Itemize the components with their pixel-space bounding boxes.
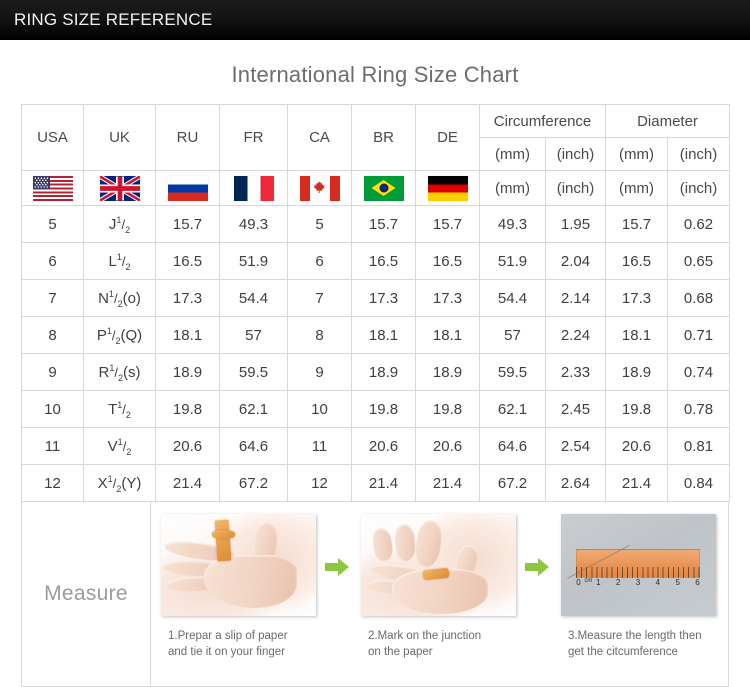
flag-france-icon <box>234 176 274 201</box>
measure-label: Measure <box>44 582 128 606</box>
cell-fr: 64.6 <box>220 428 288 465</box>
cell-uk: R1/2(s) <box>84 354 156 391</box>
cell-br: 18.1 <box>352 317 416 354</box>
cell-uk: L1/2 <box>84 243 156 280</box>
cell-circumference-inch: 2.64 <box>546 465 606 502</box>
measure-step-3: 0cm123456 3.Measure the length then get … <box>551 514 725 660</box>
cell-ca: 7 <box>288 280 352 317</box>
column-header-br: BR <box>352 105 416 171</box>
cell-circumference-mm: 62.1 <box>480 391 546 428</box>
cell-fr: 51.9 <box>220 243 288 280</box>
table-flag-row: (mm) (inch) (mm) (inch) <box>22 171 730 206</box>
table-row: 6L1/216.551.9616.516.551.92.0416.50.65 <box>22 243 730 280</box>
cell-circumference-mm: 51.9 <box>480 243 546 280</box>
cell-circumference-mm: 64.6 <box>480 428 546 465</box>
column-header-circumference: Circumference <box>480 105 606 138</box>
flag-cell-uk <box>84 171 156 206</box>
ruler-illustration: 0cm123456 <box>561 514 716 616</box>
cell-de: 17.3 <box>416 280 480 317</box>
cell-diameter-mm: 20.6 <box>606 428 668 465</box>
cell-ru: 18.1 <box>156 317 220 354</box>
cell-diameter-mm: 18.1 <box>606 317 668 354</box>
cell-br: 20.6 <box>352 428 416 465</box>
cell-diameter-inch: 0.84 <box>668 465 730 502</box>
measure-step-2: 2.Mark on the junction on the paper <box>351 514 525 660</box>
cell-ca: 5 <box>288 206 352 243</box>
cell-de: 21.4 <box>416 465 480 502</box>
flag-usa-icon <box>33 176 73 201</box>
ruler-tick-label: 3 <box>636 578 640 587</box>
cell-ru: 19.8 <box>156 391 220 428</box>
cell-fr: 54.4 <box>220 280 288 317</box>
ruler-tick-label: 4 <box>656 578 660 587</box>
cell-de: 18.9 <box>416 354 480 391</box>
cell-circumference-mm: 59.5 <box>480 354 546 391</box>
table-header-row: USA UK RU FR CA BR DE Circumference Diam… <box>22 105 730 138</box>
cell-de: 20.6 <box>416 428 480 465</box>
cell-diameter-mm: 17.3 <box>606 280 668 317</box>
banner-title: RING SIZE REFERENCE <box>14 10 212 30</box>
green-arrow-right-icon-2 <box>525 558 551 576</box>
cell-fr: 67.2 <box>220 465 288 502</box>
cell-diameter-mm: 18.9 <box>606 354 668 391</box>
hand-illustration <box>361 514 516 616</box>
cell-circumference-inch: 2.33 <box>546 354 606 391</box>
step-3-caption: 3.Measure the length then get the citcum… <box>562 629 714 660</box>
cell-diameter-inch: 0.62 <box>668 206 730 243</box>
cell-diameter-inch: 0.68 <box>668 280 730 317</box>
cell-ru: 17.3 <box>156 280 220 317</box>
step-2-caption: 2.Mark on the junction on the paper <box>362 629 514 660</box>
cell-usa: 5 <box>22 206 84 243</box>
column-header-fr: FR <box>220 105 288 171</box>
subheader-dia-mm-cell: (mm) <box>606 171 668 206</box>
subheader-diameter-inch: (inch) <box>668 138 730 171</box>
table-row: 5J1/215.749.3515.715.749.31.9515.70.62 <box>22 206 730 243</box>
cell-circumference-inch: 2.54 <box>546 428 606 465</box>
cell-diameter-inch: 0.81 <box>668 428 730 465</box>
cell-ca: 10 <box>288 391 352 428</box>
cell-ca: 12 <box>288 465 352 502</box>
ruler-tick-label: 5 <box>675 578 679 587</box>
cell-diameter-mm: 19.8 <box>606 391 668 428</box>
step-3-caption-line1: 3.Measure the length then <box>568 629 714 645</box>
cell-br: 18.9 <box>352 354 416 391</box>
subheader-circumference-inch: (inch) <box>546 138 606 171</box>
measure-step-1: 1.Prepar a slip of paper and tie it on y… <box>151 514 325 660</box>
cell-circumference-mm: 67.2 <box>480 465 546 502</box>
cell-circumference-inch: 2.14 <box>546 280 606 317</box>
cell-usa: 9 <box>22 354 84 391</box>
cell-br: 17.3 <box>352 280 416 317</box>
cell-ru: 21.4 <box>156 465 220 502</box>
table-row: 9R1/2(s)18.959.5918.918.959.52.3318.90.7… <box>22 354 730 391</box>
step-2-caption-line1: 2.Mark on the junction <box>368 629 514 645</box>
cell-diameter-inch: 0.78 <box>668 391 730 428</box>
subheader-dia-inch-cell: (inch) <box>668 171 730 206</box>
column-header-diameter: Diameter <box>606 105 730 138</box>
table-row: 10T1/219.862.11019.819.862.12.4519.80.78 <box>22 391 730 428</box>
cell-circumference-inch: 2.45 <box>546 391 606 428</box>
table-row: 12X1/2(Y)21.467.21221.421.467.22.6421.40… <box>22 465 730 502</box>
cell-uk: T1/2 <box>84 391 156 428</box>
column-header-ca: CA <box>288 105 352 171</box>
table-row: 8P1/2(Q)18.157818.118.1572.2418.10.71 <box>22 317 730 354</box>
cell-diameter-mm: 16.5 <box>606 243 668 280</box>
cell-ru: 15.7 <box>156 206 220 243</box>
cell-diameter-inch: 0.74 <box>668 354 730 391</box>
cell-ca: 8 <box>288 317 352 354</box>
subheader-circ-inch-cell: (inch) <box>546 171 606 206</box>
cell-ca: 11 <box>288 428 352 465</box>
subheader-circ-mm-cell: (mm) <box>480 171 546 206</box>
cell-ru: 18.9 <box>156 354 220 391</box>
measure-label-cell: Measure <box>22 502 151 686</box>
step-1-caption: 1.Prepar a slip of paper and tie it on y… <box>162 629 314 660</box>
cell-de: 16.5 <box>416 243 480 280</box>
ruler-tick-label: 6 <box>695 578 699 587</box>
cell-br: 19.8 <box>352 391 416 428</box>
cell-circumference-inch: 1.95 <box>546 206 606 243</box>
cell-circumference-inch: 2.24 <box>546 317 606 354</box>
flag-germany-icon <box>428 176 468 201</box>
cell-fr: 49.3 <box>220 206 288 243</box>
cell-ru: 16.5 <box>156 243 220 280</box>
cell-uk: P1/2(Q) <box>84 317 156 354</box>
cell-br: 16.5 <box>352 243 416 280</box>
cell-usa: 10 <box>22 391 84 428</box>
flag-cell-ca <box>288 171 352 206</box>
column-header-ru: RU <box>156 105 220 171</box>
measure-section: Measure 1.Prepar a slip of paper and tie… <box>21 502 729 687</box>
cell-circumference-mm: 57 <box>480 317 546 354</box>
cell-de: 15.7 <box>416 206 480 243</box>
step-2-image <box>361 514 516 616</box>
cell-br: 21.4 <box>352 465 416 502</box>
hand-illustration <box>161 514 316 616</box>
cell-usa: 12 <box>22 465 84 502</box>
cell-usa: 7 <box>22 280 84 317</box>
cell-diameter-inch: 0.65 <box>668 243 730 280</box>
cell-usa: 11 <box>22 428 84 465</box>
flag-cell-ru <box>156 171 220 206</box>
cell-circumference-mm: 54.4 <box>480 280 546 317</box>
subheader-circumference-mm: (mm) <box>480 138 546 171</box>
flag-cell-usa <box>22 171 84 206</box>
cell-diameter-mm: 21.4 <box>606 465 668 502</box>
table-row: 11V1/220.664.61120.620.664.62.5420.60.81 <box>22 428 730 465</box>
cell-ca: 6 <box>288 243 352 280</box>
cell-uk: V1/2 <box>84 428 156 465</box>
cell-ca: 9 <box>288 354 352 391</box>
flag-canada-icon <box>300 176 340 201</box>
cell-diameter-inch: 0.71 <box>668 317 730 354</box>
flag-cell-br <box>352 171 416 206</box>
table-row: 7N1/2(o)17.354.4717.317.354.42.1417.30.6… <box>22 280 730 317</box>
cell-de: 19.8 <box>416 391 480 428</box>
ring-size-table-wrapper: USA UK RU FR CA BR DE Circumference Diam… <box>21 104 729 502</box>
green-arrow-right-icon-1 <box>325 558 351 576</box>
cell-circumference-inch: 2.04 <box>546 243 606 280</box>
measure-steps: 1.Prepar a slip of paper and tie it on y… <box>151 502 728 686</box>
flag-russia-icon <box>168 176 208 201</box>
ring-size-table: USA UK RU FR CA BR DE Circumference Diam… <box>21 104 730 502</box>
flag-cell-fr <box>220 171 288 206</box>
cell-fr: 57 <box>220 317 288 354</box>
cell-de: 18.1 <box>416 317 480 354</box>
step-1-caption-line2: and tie it on your finger <box>168 645 314 661</box>
cell-fr: 59.5 <box>220 354 288 391</box>
cell-uk: J1/2 <box>84 206 156 243</box>
cell-br: 15.7 <box>352 206 416 243</box>
flag-brazil-icon <box>364 176 404 201</box>
cell-usa: 8 <box>22 317 84 354</box>
column-header-uk: UK <box>84 105 156 171</box>
step-1-image <box>161 514 316 616</box>
step-2-caption-line2: on the paper <box>368 645 514 661</box>
cell-diameter-mm: 15.7 <box>606 206 668 243</box>
column-header-de: DE <box>416 105 480 171</box>
cell-usa: 6 <box>22 243 84 280</box>
cell-uk: X1/2(Y) <box>84 465 156 502</box>
page-title: International Ring Size Chart <box>0 62 750 88</box>
cell-circumference-mm: 49.3 <box>480 206 546 243</box>
subheader-diameter-mm: (mm) <box>606 138 668 171</box>
step-1-caption-line1: 1.Prepar a slip of paper <box>168 629 314 645</box>
flag-cell-de <box>416 171 480 206</box>
cell-uk: N1/2(o) <box>84 280 156 317</box>
cell-fr: 62.1 <box>220 391 288 428</box>
column-header-usa: USA <box>22 105 84 171</box>
step-3-caption-line2: get the citcumference <box>568 645 714 661</box>
page-banner: RING SIZE REFERENCE <box>0 0 750 40</box>
cell-ru: 20.6 <box>156 428 220 465</box>
flag-uk-icon <box>100 176 140 201</box>
step-3-image: 0cm123456 <box>561 514 716 616</box>
